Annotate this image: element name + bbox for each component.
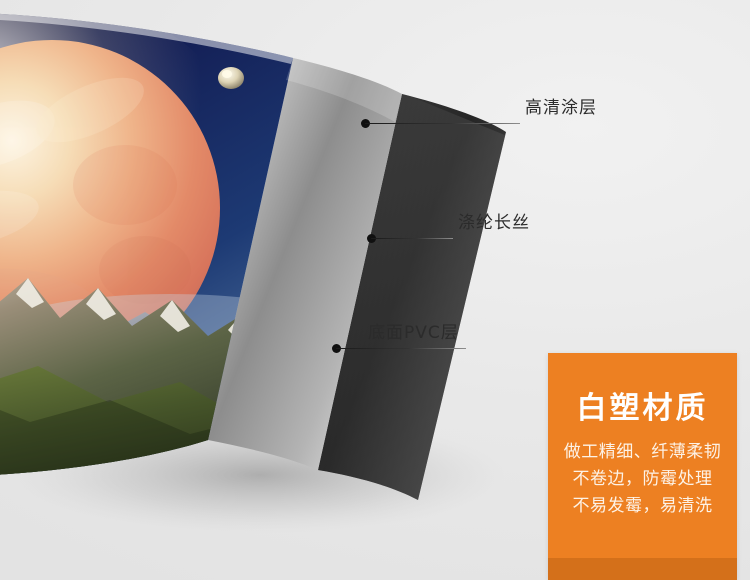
material-layer-stack — [0, 0, 600, 580]
callout-line-pvc-base — [336, 348, 466, 349]
feature-panel: 白塑材质 做工精细、纤薄柔韧 不卷边，防霉处理 不易发霉，易清洗 — [548, 353, 737, 580]
callout-label-polyester-filament: 涤纶长丝 — [458, 208, 530, 233]
feature-line: 不卷边，防霉处理 — [548, 466, 737, 493]
callout-label-pvc-base: 底面PVC层 — [368, 318, 459, 343]
feature-line: 不易发霉，易清洗 — [548, 493, 737, 520]
feature-panel-body: 做工精细、纤薄柔韧 不卷边，防霉处理 不易发霉，易清洗 — [548, 439, 737, 520]
photo-moon — [218, 67, 244, 89]
feature-panel-footer-bar — [548, 558, 737, 580]
callout-label-hd-coating: 高清涂层 — [525, 93, 597, 118]
feature-line: 做工精细、纤薄柔韧 — [548, 439, 737, 466]
callout-line-polyester-filament — [371, 238, 453, 239]
feature-panel-title: 白塑材质 — [548, 383, 737, 427]
product-detail-image: 高清涂层 涤纶长丝 底面PVC层 白塑材质 做工精细、纤薄柔韧 不卷边，防霉处理… — [0, 0, 750, 580]
callout-line-hd-coating — [365, 123, 520, 124]
